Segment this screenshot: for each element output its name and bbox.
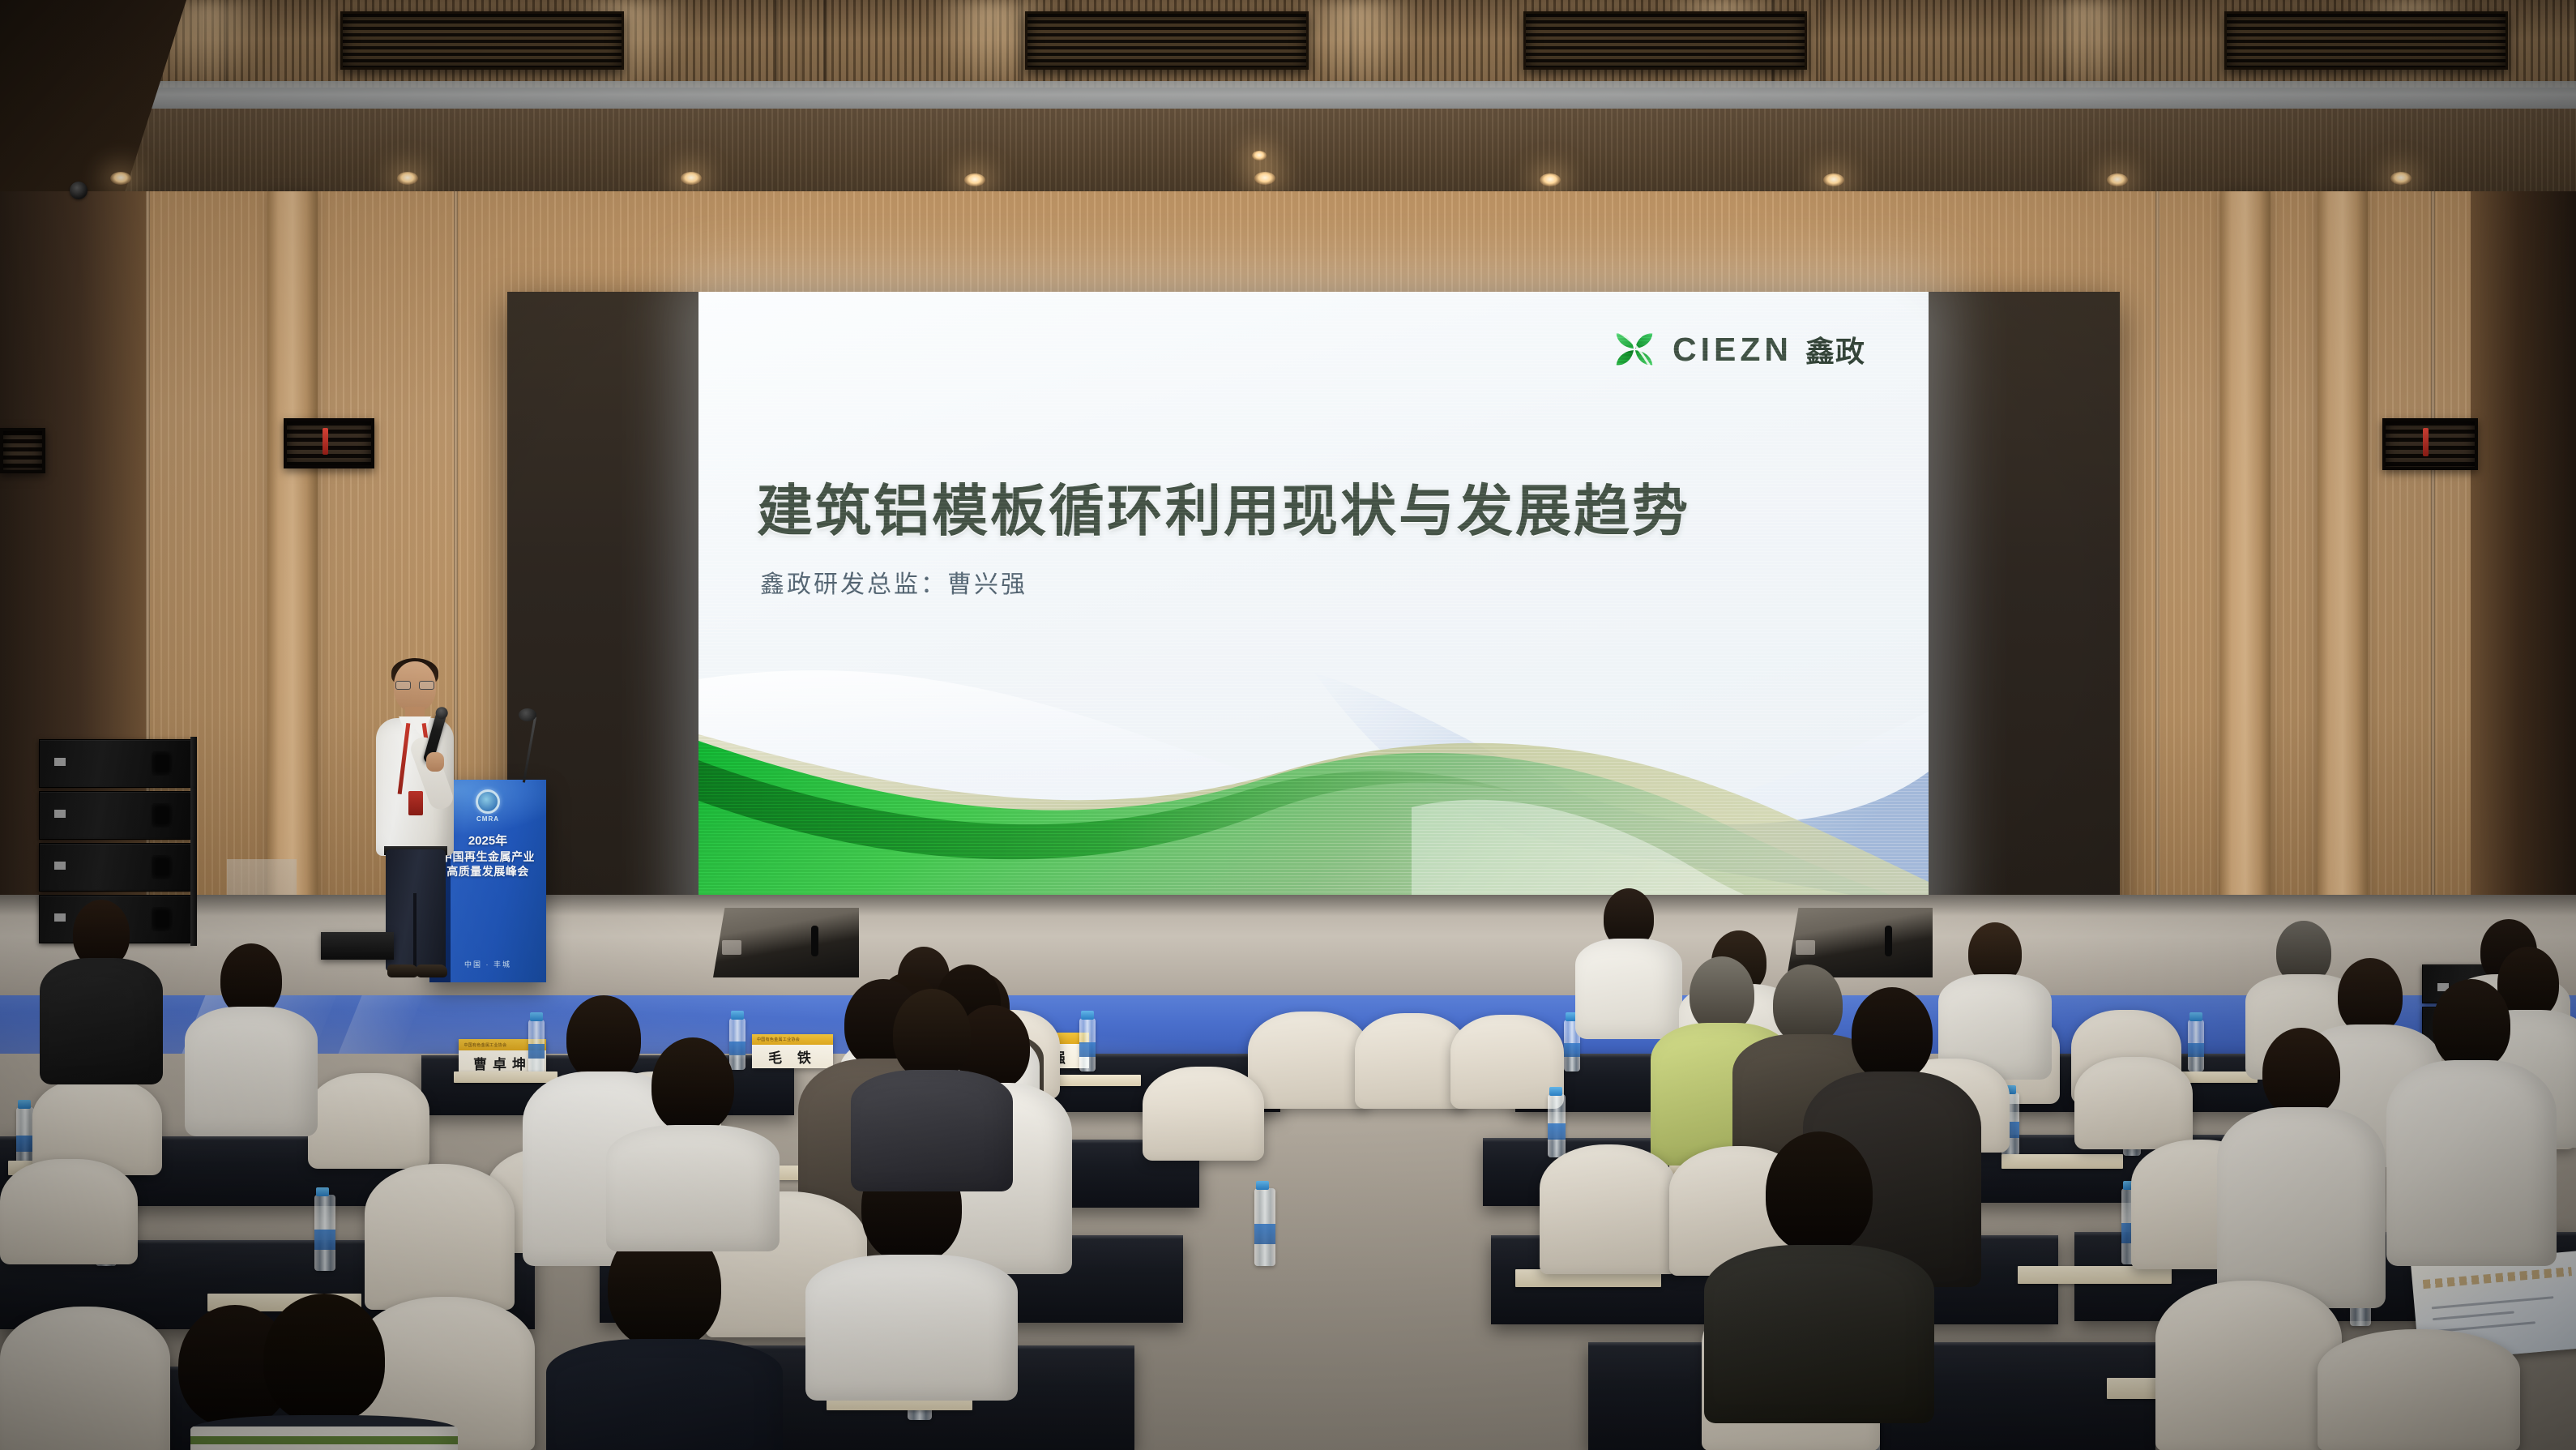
presenter-glasses-icon [395, 681, 434, 690]
slide-title: 建筑铝模板循环利用现状与发展趋势 [757, 465, 1891, 546]
audience-torso-striped-polo [190, 1415, 458, 1450]
name-card-org: 中国有色金属工业协会 [464, 1042, 506, 1048]
ciezn-petal-logo-icon [1609, 324, 1660, 374]
audience-torso [546, 1339, 783, 1450]
ceiling-downlight [1823, 173, 1844, 186]
audience-chair [0, 1159, 138, 1264]
audience-member [194, 943, 308, 1130]
slide-logo-wordmark: CIEZN [1672, 331, 1792, 369]
slide-logo-chinese: 鑫政 [1805, 328, 1865, 370]
water-bottle [16, 1107, 34, 1169]
booklet-header-strip [2422, 1267, 2572, 1289]
lectern-microphone-head [519, 708, 536, 721]
audience-head [1766, 1131, 1873, 1253]
line-array-module [39, 843, 193, 892]
presenter-leg-separation [413, 893, 417, 971]
presentation-slide[interactable]: CIEZN 鑫政 建筑铝模板循环利用现状与发展趋势 鑫政研发总监：曹兴强 [698, 292, 1929, 932]
audience-chair [1248, 1012, 1369, 1109]
led-wall-frame: CIEZN 鑫政 建筑铝模板循环利用现状与发展趋势 鑫政研发总监：曹兴强 [507, 292, 2120, 932]
audience-head [651, 1037, 734, 1133]
wall-speaker-dot [70, 182, 88, 199]
wall-pillar [2318, 191, 2368, 945]
slide-wave-graphic [698, 665, 1929, 932]
audience-torso [805, 1255, 1018, 1401]
booklet-text-line [2432, 1296, 2554, 1309]
ceiling-downlight [397, 172, 418, 185]
stage-floor-equipment-box [321, 932, 394, 960]
audience-chair [1143, 1067, 1264, 1161]
audience-head [263, 1294, 385, 1423]
ceiling-downlight [964, 173, 985, 186]
audience-member [859, 989, 1005, 1175]
stage-monitor-speaker [713, 908, 859, 977]
notepad [2001, 1154, 2123, 1169]
water-bottle [1254, 1188, 1275, 1266]
ceiling-baffle [754, 0, 775, 88]
audience-head [893, 989, 971, 1080]
ceiling-hvac-grille [340, 11, 624, 70]
ceiling-downlight [2390, 172, 2412, 185]
ceiling-baffle [802, 0, 823, 88]
audience-chair [308, 1073, 429, 1169]
water-bottle [314, 1195, 335, 1271]
led-wall-right-bezel [1929, 292, 2120, 932]
water-bottle [1548, 1094, 1566, 1157]
audience-member [49, 900, 154, 1078]
ceiling-downlight [1540, 173, 1561, 186]
audience-chair [1450, 1015, 1564, 1109]
audience-chair [2318, 1329, 2520, 1450]
audience-chair [2155, 1281, 2342, 1450]
audience-member [1718, 1131, 1920, 1407]
ceiling-downlight [2107, 173, 2128, 186]
wall-seam [2431, 191, 2435, 937]
stage-monitor-handle [1885, 926, 1892, 956]
presenter-shoe [417, 965, 447, 977]
ceiling-hvac-grille [1025, 11, 1309, 70]
wall-pillar [267, 191, 318, 945]
audience-torso [185, 1007, 318, 1136]
audience-head [220, 943, 282, 1016]
audience-head [1852, 987, 1933, 1081]
wall-seam [2155, 191, 2159, 937]
water-bottle [1079, 1018, 1096, 1071]
audience-torso [1704, 1245, 1934, 1423]
audience-member [203, 1294, 446, 1450]
slide-subtitle: 鑫政研发总监：曹兴强 [760, 564, 1027, 600]
ceiling-downlight [110, 172, 131, 185]
stage-monitor-connector [722, 940, 741, 955]
stage-monitor-handle [811, 926, 818, 956]
wall-recessed-vent [284, 418, 374, 468]
fire-equipment-marker [2423, 428, 2429, 456]
audience-torso [851, 1070, 1013, 1191]
audience-torso [606, 1125, 780, 1251]
conference-hall-photo: CIEZN 鑫政 建筑铝模板循环利用现状与发展趋势 鑫政研发总监：曹兴强 CMR… [0, 0, 2576, 1450]
audience-member [559, 1222, 770, 1450]
audience-chair [2074, 1057, 2193, 1149]
water-bottle [2188, 1020, 2204, 1071]
slide-brand-logo: CIEZN 鑫政 [1609, 324, 1865, 374]
right-wall-dark-return [2471, 191, 2576, 945]
audience-chair [365, 1164, 515, 1310]
presenter-hand [426, 752, 444, 772]
audience-chair [1540, 1144, 1677, 1274]
cmra-ring-icon [476, 789, 500, 814]
fire-equipment-marker [323, 428, 328, 455]
audience-torso [40, 958, 163, 1084]
line-array-module [39, 791, 193, 840]
presenter-shoe [387, 965, 418, 977]
ceiling-downlight [1254, 172, 1275, 185]
audience-member [616, 1037, 770, 1232]
ceiling-hvac-grille [1523, 11, 1807, 70]
line-array-module [39, 739, 193, 788]
ceiling-downlight [681, 172, 702, 185]
presenter-badge [408, 791, 423, 815]
wall-recessed-vent [2382, 418, 2478, 470]
ceiling-sprinkler [1252, 151, 1267, 160]
ceiling-hvac-grille [2224, 11, 2508, 70]
audience-member [2285, 956, 2447, 1200]
stage-monitor-connector [1796, 940, 1815, 955]
booklet-text-line [2433, 1311, 2514, 1321]
cmra-logo: CMRA [471, 789, 505, 823]
wall-recessed-vent [0, 428, 45, 473]
wall-pillar [2220, 191, 2271, 945]
cmra-label: CMRA [471, 815, 505, 823]
ceiling-main-panel [0, 109, 2576, 203]
